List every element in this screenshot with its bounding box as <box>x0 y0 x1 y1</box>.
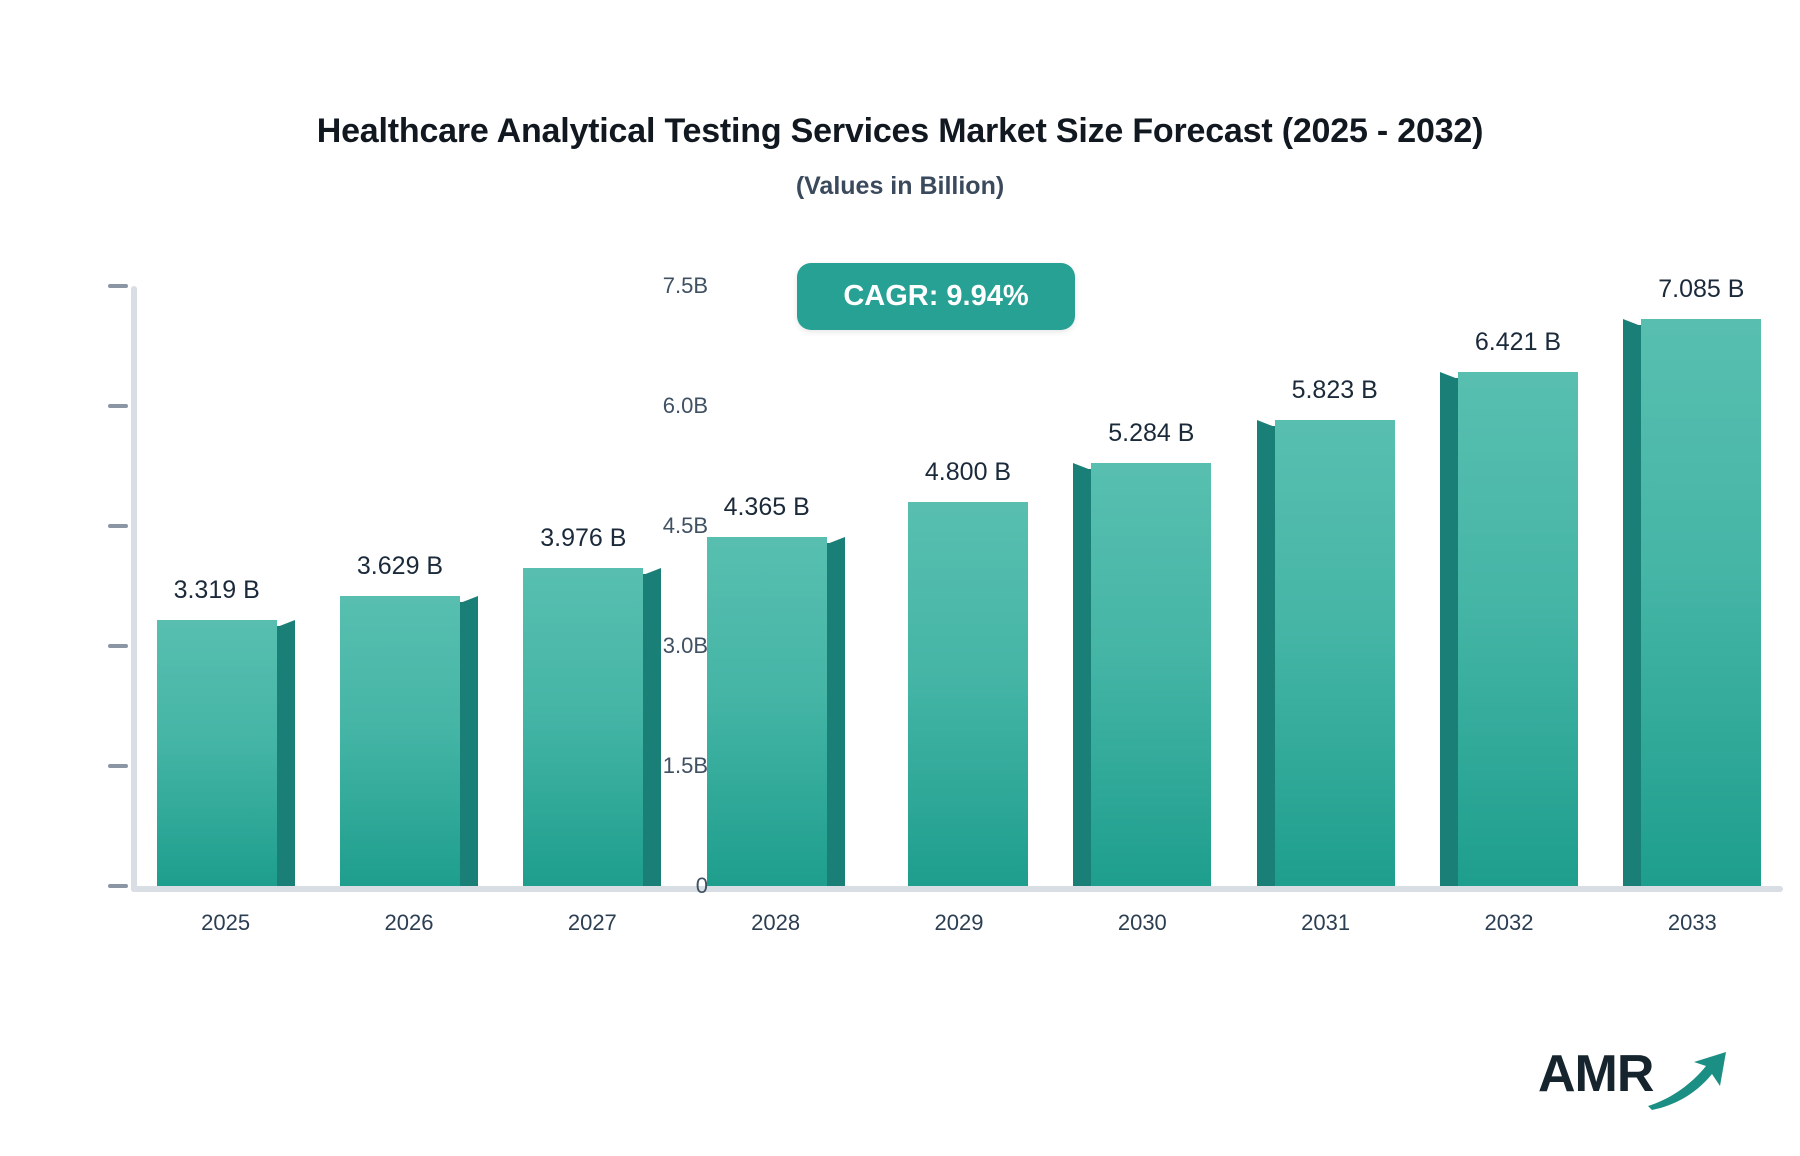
amr-logo: AMR <box>1538 1044 1738 1114</box>
bar-front-face[interactable] <box>707 537 827 886</box>
bar-value-label: 3.629 B <box>290 552 510 581</box>
bar-side-face <box>1623 325 1641 886</box>
bar-side-face <box>1440 378 1458 886</box>
bar-front-face[interactable] <box>1275 420 1395 886</box>
bar-value-label: 4.365 B <box>657 493 877 522</box>
bar-front-face[interactable] <box>1458 372 1578 886</box>
x-axis-tick-label: 2031 <box>1237 910 1415 936</box>
bar-side-bevel <box>643 568 661 575</box>
bar-value-label: 3.976 B <box>473 524 693 553</box>
bar-side-bevel <box>1257 420 1275 427</box>
bar-side-bevel <box>1623 319 1641 326</box>
x-axis-tick-label: 2029 <box>870 910 1048 936</box>
cagr-badge: CAGR: 9.94% <box>797 263 1075 330</box>
bar-side-bevel <box>1440 372 1458 379</box>
y-axis-tick-mark <box>108 764 128 768</box>
bar-side-face <box>277 626 295 886</box>
x-axis-tick-label: 2032 <box>1420 910 1598 936</box>
bar-front-face[interactable] <box>340 596 460 886</box>
bar-front-face[interactable] <box>1091 463 1211 886</box>
amr-logo-text: AMR <box>1538 1044 1653 1104</box>
x-axis-line <box>131 886 1783 892</box>
bar-value-label: 5.823 B <box>1225 376 1445 405</box>
bar-value-label: 4.800 B <box>858 458 1078 487</box>
growth-arrow-icon <box>1646 1050 1732 1117</box>
chart-page: Healthcare Analytical Testing Services M… <box>0 0 1800 1156</box>
bar-chart-plot: 01.5B3.0B4.5B6.0B7.5B 202520262027202820… <box>0 0 1800 1156</box>
bar-side-face <box>460 602 478 886</box>
bar-side-bevel <box>460 596 478 603</box>
cagr-badge-label: CAGR: 9.94% <box>843 280 1028 313</box>
x-axis-tick-label: 2030 <box>1053 910 1231 936</box>
bar-value-label: 3.319 B <box>107 576 327 605</box>
bar-value-label: 6.421 B <box>1408 328 1628 357</box>
y-axis-tick-mark <box>108 524 128 528</box>
y-axis-tick-mark <box>108 644 128 648</box>
bar-front-face[interactable] <box>908 502 1028 886</box>
bar-side-face <box>1073 469 1091 886</box>
x-axis-tick-label: 2025 <box>137 910 315 936</box>
y-axis-tick-mark <box>108 884 128 888</box>
bar-side-bevel <box>827 537 845 544</box>
bar-value-label: 7.085 B <box>1591 275 1800 304</box>
y-axis-tick-label: 7.5B <box>548 273 708 299</box>
bar-side-bevel <box>277 620 295 627</box>
y-axis-tick-mark <box>108 404 128 408</box>
bar-front-face[interactable] <box>1641 319 1761 886</box>
x-axis-tick-label: 2027 <box>503 910 681 936</box>
bar-front-face[interactable] <box>523 568 643 886</box>
bar-value-label: 5.284 B <box>1041 419 1261 448</box>
x-axis-tick-label: 2026 <box>320 910 498 936</box>
x-axis-tick-label: 2028 <box>687 910 865 936</box>
bar-side-face <box>827 543 845 886</box>
bar-side-face <box>1257 426 1275 886</box>
bar-front-face[interactable] <box>157 620 277 886</box>
bar-side-face <box>643 574 661 886</box>
y-axis-tick-mark <box>108 284 128 288</box>
bar-side-bevel <box>1073 463 1091 470</box>
y-axis-tick-label: 6.0B <box>548 393 708 419</box>
x-axis-tick-label: 2033 <box>1603 910 1781 936</box>
